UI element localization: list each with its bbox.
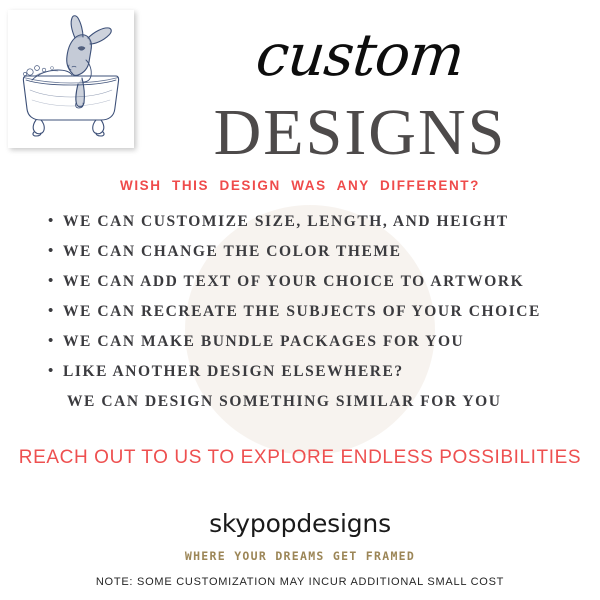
list-item-label: WE CAN MAKE BUNDLE PACKAGES FOR YOU (63, 334, 464, 350)
feature-list: • WE CAN CUSTOMIZE SIZE, LENGTH, AND HEI… (48, 214, 588, 424)
list-item: • WE CAN RECREATE THE SUBJECTS OF YOUR C… (48, 304, 588, 334)
list-item: • WE CAN CHANGE THE COLOR THEME (48, 244, 588, 274)
headline-block: custom DESIGNS (140, 14, 580, 166)
list-item-label: WE CAN CUSTOMIZE SIZE, LENGTH, AND HEIGH… (63, 214, 509, 230)
bullet-icon: • (48, 274, 63, 289)
bullet-icon: • (48, 244, 63, 259)
list-item-continuation: • WE CAN DESIGN SOMETHING SIMILAR FOR YO… (48, 394, 588, 424)
list-item: • LIKE ANOTHER DESIGN ELSEWHERE? (48, 364, 588, 394)
list-item: • WE CAN ADD TEXT OF YOUR CHOICE TO ARTW… (48, 274, 588, 304)
bullet-icon: • (48, 304, 63, 319)
product-thumbnail-card[interactable] (8, 10, 134, 148)
list-item: • WE CAN MAKE BUNDLE PACKAGES FOR YOU (48, 334, 588, 364)
list-item-label: WE CAN RECREATE THE SUBJECTS OF YOUR CHO… (63, 304, 541, 320)
headline-script-word: custom (137, 26, 583, 84)
bullet-icon: • (48, 364, 63, 379)
bullet-icon: • (48, 214, 63, 229)
list-item-label: WE CAN CHANGE THE COLOR THEME (63, 244, 402, 260)
footer-note: NOTE: SOME CUSTOMIZATION MAY INCUR ADDIT… (0, 576, 600, 588)
call-to-action-text: REACH OUT TO US TO EXPLORE ENDLESS POSSI… (0, 447, 600, 469)
headline-serif-word: DESIGNS (140, 100, 580, 166)
brand-tagline: WHERE YOUR DREAMS GET FRAMED (0, 549, 600, 563)
list-item-label: WE CAN DESIGN SOMETHING SIMILAR FOR YOU (67, 394, 502, 410)
list-item-label: LIKE ANOTHER DESIGN ELSEWHERE? (63, 364, 404, 380)
sub-headline: WISH THIS DESIGN WAS ANY DIFFERENT? (0, 178, 600, 193)
brand-name: skypopdesigns (0, 509, 600, 538)
list-item: • WE CAN CUSTOMIZE SIZE, LENGTH, AND HEI… (48, 214, 588, 244)
donkey-in-bathtub-illustration (8, 10, 134, 148)
bullet-icon: • (48, 334, 63, 349)
list-item-label: WE CAN ADD TEXT OF YOUR CHOICE TO ARTWOR… (63, 274, 524, 290)
promo-poster: custom DESIGNS WISH THIS DESIGN WAS ANY … (0, 0, 600, 600)
